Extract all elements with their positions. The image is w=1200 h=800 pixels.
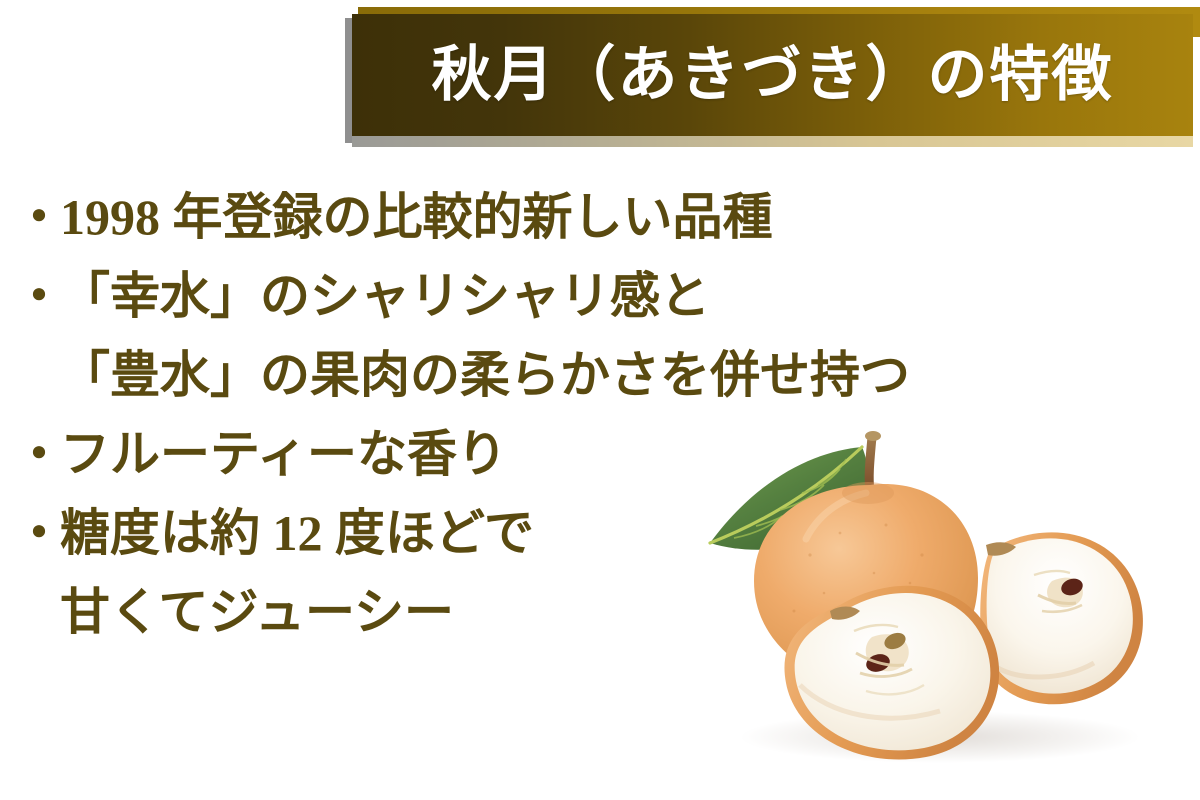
bullet-marker: ・ (14, 494, 60, 573)
banner-plate: 秋月（あきづき）の特徴 (352, 14, 1193, 136)
bullet-marker: ・ (14, 257, 60, 336)
list-item-label: 「豊水」の果肉の柔らかさを併せ持つ (60, 336, 910, 415)
list-item-label: 甘くてジューシー (60, 573, 454, 652)
list-item-continuation: 「豊水」の果肉の柔らかさを併せ持つ (0, 336, 1010, 415)
bullet-marker: ・ (14, 415, 60, 494)
bullet-marker: ・ (14, 178, 60, 257)
pear-photo (690, 415, 1190, 765)
list-item: ・1998 年登録の比較的新しい品種 (0, 178, 1010, 257)
list-item-label: 「幸水」のシャリシャリ感と (60, 257, 710, 336)
list-item-label: フルーティーな香り (60, 415, 507, 494)
pear-half-right (980, 532, 1143, 704)
banner-underline (352, 136, 1193, 147)
list-item-label: 糖度は約 12 度ほどで (60, 494, 534, 573)
header-banner: 秋月（あきづき）の特徴 (0, 0, 1200, 170)
page-title: 秋月（あきづき）の特徴 (432, 45, 1114, 105)
list-item-label: 1998 年登録の比較的新しい品種 (60, 178, 773, 257)
stem-icon (865, 431, 881, 491)
list-item: ・「幸水」のシャリシャリ感と (0, 257, 1010, 336)
slide-root: 秋月（あきづき）の特徴 ・1998 年登録の比較的新しい品種 ・「幸水」のシャリ… (0, 0, 1200, 800)
